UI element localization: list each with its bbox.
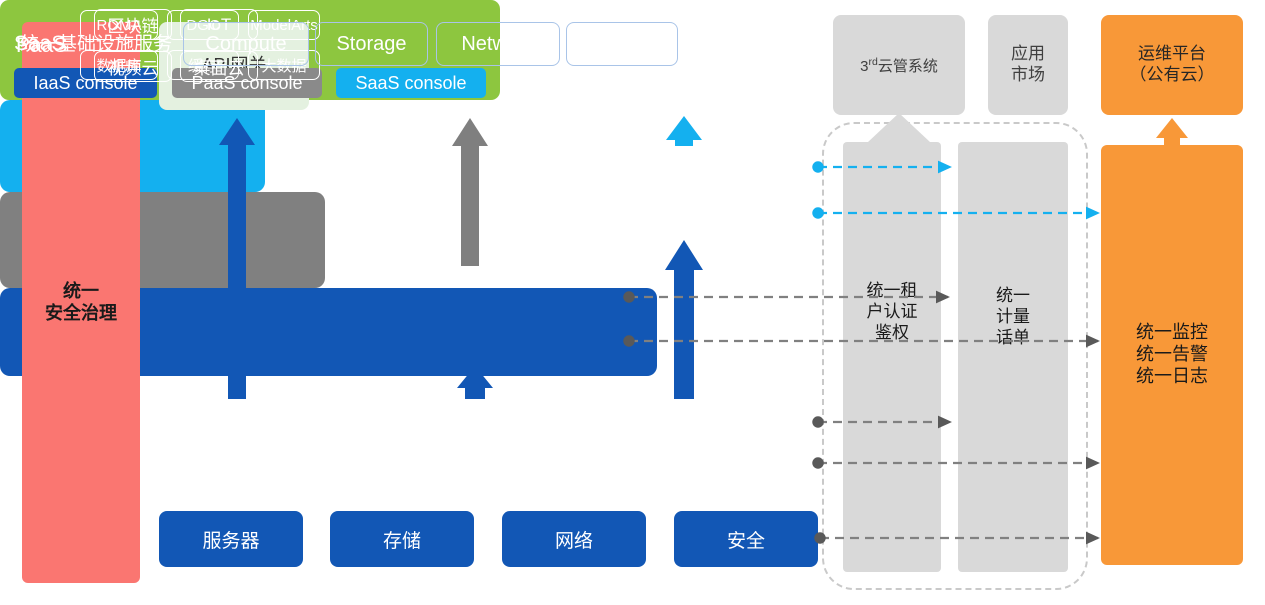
infra-service-storage[interactable]: Storage — [315, 22, 428, 66]
ops-monitoring-panel: 统一监控 统一告警 统一日志 — [1101, 145, 1243, 565]
resource-box-security[interactable]: 安全 — [674, 511, 818, 567]
saas-console-label: SaaS console — [355, 73, 466, 94]
unified-auth-label: 统一租 户认证 鉴权 — [843, 280, 941, 343]
infra-service-label: Network — [461, 33, 534, 56]
resource-box-storage[interactable]: 存储 — [330, 511, 474, 567]
app-market-box: 应用 市场 — [988, 15, 1068, 115]
app-market-label: 应用 市场 — [1011, 44, 1045, 85]
ops-platform-box: 运维平台 （公有云） — [1101, 15, 1243, 115]
saas-console-chip[interactable]: SaaS console — [336, 68, 486, 98]
infra-service-label: CCE — [601, 33, 643, 56]
infra-service-network[interactable]: Network — [436, 22, 560, 66]
third-party-superscript: rd — [868, 56, 877, 68]
unified-metering-label: 统一 计量 话单 — [958, 285, 1068, 348]
resource-box-server[interactable]: 服务器 — [159, 511, 303, 567]
unified-metering-column — [958, 142, 1068, 572]
architecture-diagram: 统一 安全治理 API网关 自助服务Console框架 IaaS console… — [0, 0, 1265, 605]
resource-label: 存储 — [383, 526, 421, 553]
paas-service-label: 数据库 — [96, 55, 141, 76]
resource-label: 安全 — [727, 526, 765, 553]
arrow-infra-to-saas — [665, 240, 703, 399]
infra-service-compute[interactable]: Compute — [183, 22, 309, 66]
arrow-paas-to-console — [452, 118, 488, 266]
resource-box-network[interactable]: 网络 — [502, 511, 646, 567]
security-governance-label: 统一 安全治理 — [45, 281, 117, 325]
infra-service-label: Compute — [205, 33, 286, 56]
unified-auth-column — [843, 142, 941, 572]
ops-platform-label: 运维平台 （公有云） — [1130, 44, 1215, 85]
infra-service-cce[interactable]: CCE — [566, 22, 678, 66]
ops-monitoring-label: 统一监控 统一告警 统一日志 — [1136, 322, 1208, 388]
resource-label: 网络 — [555, 526, 593, 553]
arrow-saas-to-console — [666, 116, 702, 146]
security-governance-panel: 统一 安全治理 — [22, 22, 140, 583]
infrastructure-title: 统一基础设施服务 — [20, 29, 172, 56]
third-party-suffix: 云管系统 — [878, 58, 938, 75]
resource-label: 服务器 — [202, 526, 259, 553]
third-party-cloud-mgmt-box: 3rd云管系统 — [833, 15, 965, 115]
infra-service-label: Storage — [336, 33, 406, 56]
third-party-cloud-mgmt-label: 3rd云管系统 — [860, 55, 938, 76]
arrow-ops-body-to-ops-top — [1156, 118, 1188, 145]
